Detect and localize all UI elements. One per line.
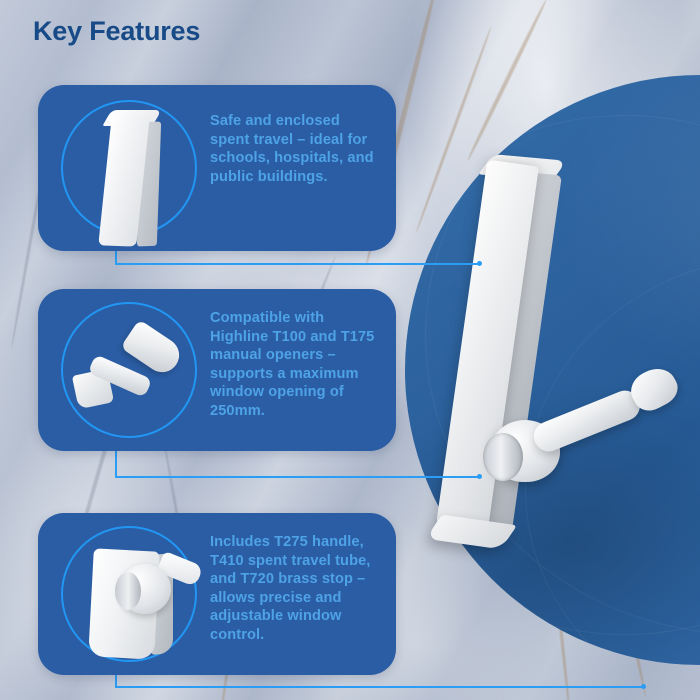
brass-stop-ring [483, 433, 523, 481]
product-image [435, 165, 700, 565]
connector-2-endpoint [477, 474, 482, 479]
connector-1-endpoint [477, 261, 482, 266]
manual-opener-handle-thumbnail [63, 304, 195, 436]
connector-1-horizontal [115, 263, 480, 265]
handle-arm [529, 386, 644, 456]
spent-travel-tube-thumbnail [63, 102, 195, 234]
feature-2-icon-circle [61, 302, 197, 438]
page-title: Key Features [33, 16, 200, 47]
thumb3-ring [115, 572, 141, 610]
feature-card-2[interactable]: Compatible with Highline T100 and T175 m… [38, 289, 396, 451]
connector-2-horizontal [115, 476, 480, 478]
feature-card-1[interactable]: Safe and enclosed spent travel – ideal f… [38, 85, 396, 251]
feature-3-text: Includes T275 handle, T410 spent travel … [210, 533, 382, 645]
feature-2-text: Compatible with Highline T100 and T175 m… [210, 309, 382, 421]
feature-card-3[interactable]: Includes T275 handle, T410 spent travel … [38, 513, 396, 675]
connector-3-endpoint [641, 684, 646, 689]
feature-3-icon-circle [61, 526, 197, 662]
tube-body [436, 160, 565, 539]
feature-1-icon-circle [61, 100, 197, 236]
connector-3-horizontal [115, 686, 645, 688]
feature-1-text: Safe and enclosed spent travel – ideal f… [210, 112, 382, 186]
handle-brass-stop-thumbnail [63, 528, 195, 660]
